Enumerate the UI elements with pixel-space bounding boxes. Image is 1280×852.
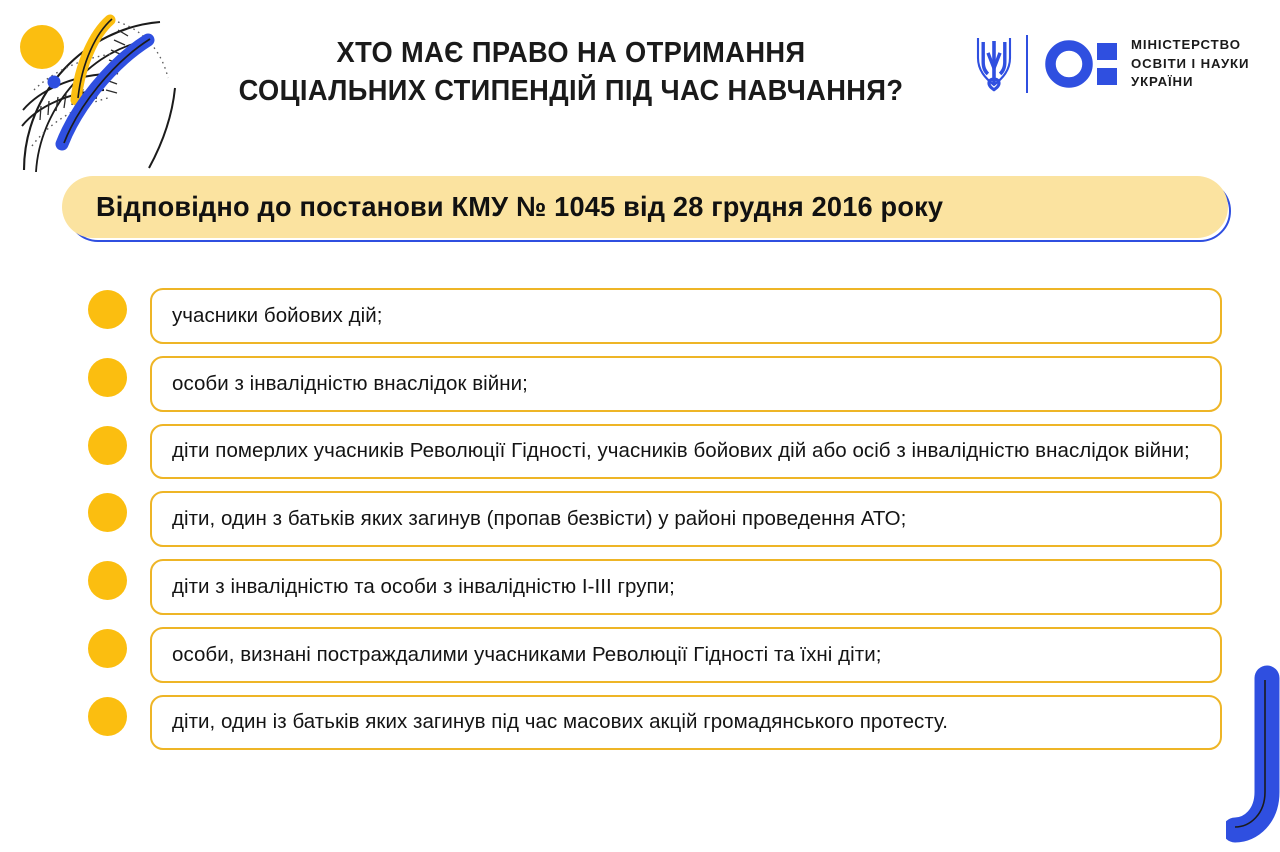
ministry-logo: МІНІСТЕРСТВО ОСВІТИ І НАУКИ УКРАЇНИ bbox=[975, 27, 1249, 101]
criteria-box: діти, один з батьків яких загинув (пропа… bbox=[150, 491, 1222, 547]
bullet-dot-icon bbox=[88, 426, 127, 465]
bullet-dot-icon bbox=[88, 358, 127, 397]
page-title: ХТО МАЄ ПРАВО НА ОТРИМАННЯ СОЦІАЛЬНИХ СТ… bbox=[209, 34, 933, 110]
criteria-box: особи з інвалідністю внаслідок війни; bbox=[150, 356, 1222, 412]
list-item: діти, один із батьків яких загинув під ч… bbox=[88, 695, 1222, 750]
criteria-box: діти, один із батьків яких загинув під ч… bbox=[150, 695, 1222, 750]
criteria-text: діти, один із батьків яких загинув під ч… bbox=[172, 707, 948, 736]
ministry-logo-line-3: УКРАЇНИ bbox=[1131, 73, 1249, 92]
criteria-text: особи з інвалідністю внаслідок війни; bbox=[172, 369, 528, 398]
list-item: особи, визнані постраждалими учасниками … bbox=[88, 627, 1222, 683]
list-item: учасники бойових дій; bbox=[88, 288, 1222, 344]
criteria-text: діти померлих учасників Революції Гіднос… bbox=[172, 436, 1190, 465]
criteria-box: діти з інвалідністю та особи з інвалідні… bbox=[150, 559, 1222, 615]
bullet-dot-icon bbox=[88, 629, 127, 668]
bullet-dot-icon bbox=[88, 697, 127, 736]
ministry-logo-line-2: ОСВІТИ І НАУКИ bbox=[1131, 55, 1249, 74]
ministry-logo-line-1: МІНІСТЕРСТВО bbox=[1131, 36, 1249, 55]
list-item: діти, один з батьків яких загинув (пропа… bbox=[88, 491, 1222, 547]
criteria-box: особи, визнані постраждалими учасниками … bbox=[150, 627, 1222, 683]
infographic-canvas: ХТО МАЄ ПРАВО НА ОТРИМАННЯ СОЦІАЛЬНИХ СТ… bbox=[0, 0, 1280, 852]
banner-fill: Відповідно до постанови КМУ № 1045 від 2… bbox=[62, 176, 1228, 238]
criteria-text: діти, один з батьків яких загинув (пропа… bbox=[172, 504, 906, 533]
criteria-text: особи, визнані постраждалими учасниками … bbox=[172, 640, 881, 669]
bullet-dot-icon bbox=[88, 290, 127, 329]
banner-text: Відповідно до постанови КМУ № 1045 від 2… bbox=[96, 191, 943, 223]
logo-divider bbox=[1026, 35, 1028, 93]
page-title-line-2: СОЦІАЛЬНИХ СТИПЕНДІЙ ПІД ЧАС НАВЧАННЯ? bbox=[209, 72, 933, 110]
bullet-dot-icon bbox=[88, 493, 127, 532]
bullet-dot-icon bbox=[88, 561, 127, 600]
regulation-banner: Відповідно до постанови КМУ № 1045 від 2… bbox=[62, 176, 1228, 238]
ministry-logo-text: МІНІСТЕРСТВО ОСВІТИ І НАУКИ УКРАЇНИ bbox=[1131, 36, 1249, 92]
blue-hook-decoration bbox=[1226, 664, 1280, 844]
criteria-box: учасники бойових дій; bbox=[150, 288, 1222, 344]
criteria-list: учасники бойових дій; особи з інвалідніс… bbox=[88, 288, 1222, 762]
criteria-text: учасники бойових дій; bbox=[172, 301, 382, 330]
mon-o-equals-icon bbox=[1045, 39, 1117, 89]
criteria-text: діти з інвалідністю та особи з інвалідні… bbox=[172, 572, 675, 601]
list-item: особи з інвалідністю внаслідок війни; bbox=[88, 356, 1222, 412]
page-title-line-1: ХТО МАЄ ПРАВО НА ОТРИМАННЯ bbox=[209, 34, 933, 72]
list-item: діти померлих учасників Революції Гіднос… bbox=[88, 424, 1222, 479]
tryzub-icon bbox=[975, 33, 1013, 95]
criteria-box: діти померлих учасників Революції Гіднос… bbox=[150, 424, 1222, 479]
list-item: діти з інвалідністю та особи з інвалідні… bbox=[88, 559, 1222, 615]
arc-cluster-decoration bbox=[0, 0, 210, 172]
